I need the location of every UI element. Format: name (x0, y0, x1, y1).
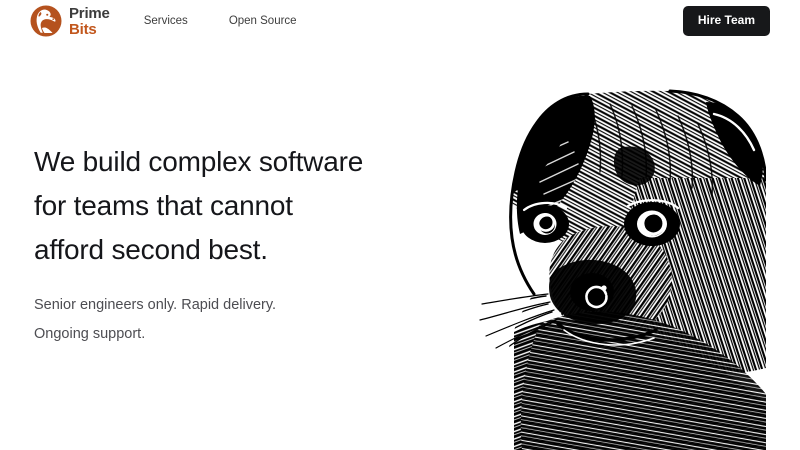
mongoose-head-circle-icon (30, 5, 62, 37)
hero-sub-line-2: Ongoing support. (34, 326, 145, 342)
main-navigation: Services Open Source (144, 15, 297, 27)
nav-item-open-source[interactable]: Open Source (229, 15, 297, 27)
hero-section: We build complex software for teams that… (0, 42, 800, 450)
hero-copy: We build complex software for teams that… (34, 140, 434, 349)
hero-headline: We build complex software for teams that… (34, 140, 434, 272)
hero-sub-line-1: Senior engineers only. Rapid delivery. (34, 297, 276, 313)
brand-word-prime: Prime (69, 6, 110, 21)
brand-word-bits: Bits (69, 22, 110, 37)
hero-headline-line-3: afford second best. (34, 234, 268, 265)
mongoose-engraving-illustration (470, 88, 766, 450)
hero-headline-line-1: We build complex software (34, 146, 363, 177)
hero-headline-line-2: for teams that cannot (34, 190, 293, 221)
nav-item-services[interactable]: Services (144, 15, 188, 27)
site-header: Prime Bits Services Open Source Hire Tea… (0, 0, 800, 42)
brand-wordmark: Prime Bits (69, 5, 110, 37)
brand-logo-link[interactable]: Prime Bits (30, 5, 110, 37)
hire-team-button[interactable]: Hire Team (683, 6, 770, 35)
hero-subheadline: Senior engineers only. Rapid delivery. O… (34, 291, 434, 349)
